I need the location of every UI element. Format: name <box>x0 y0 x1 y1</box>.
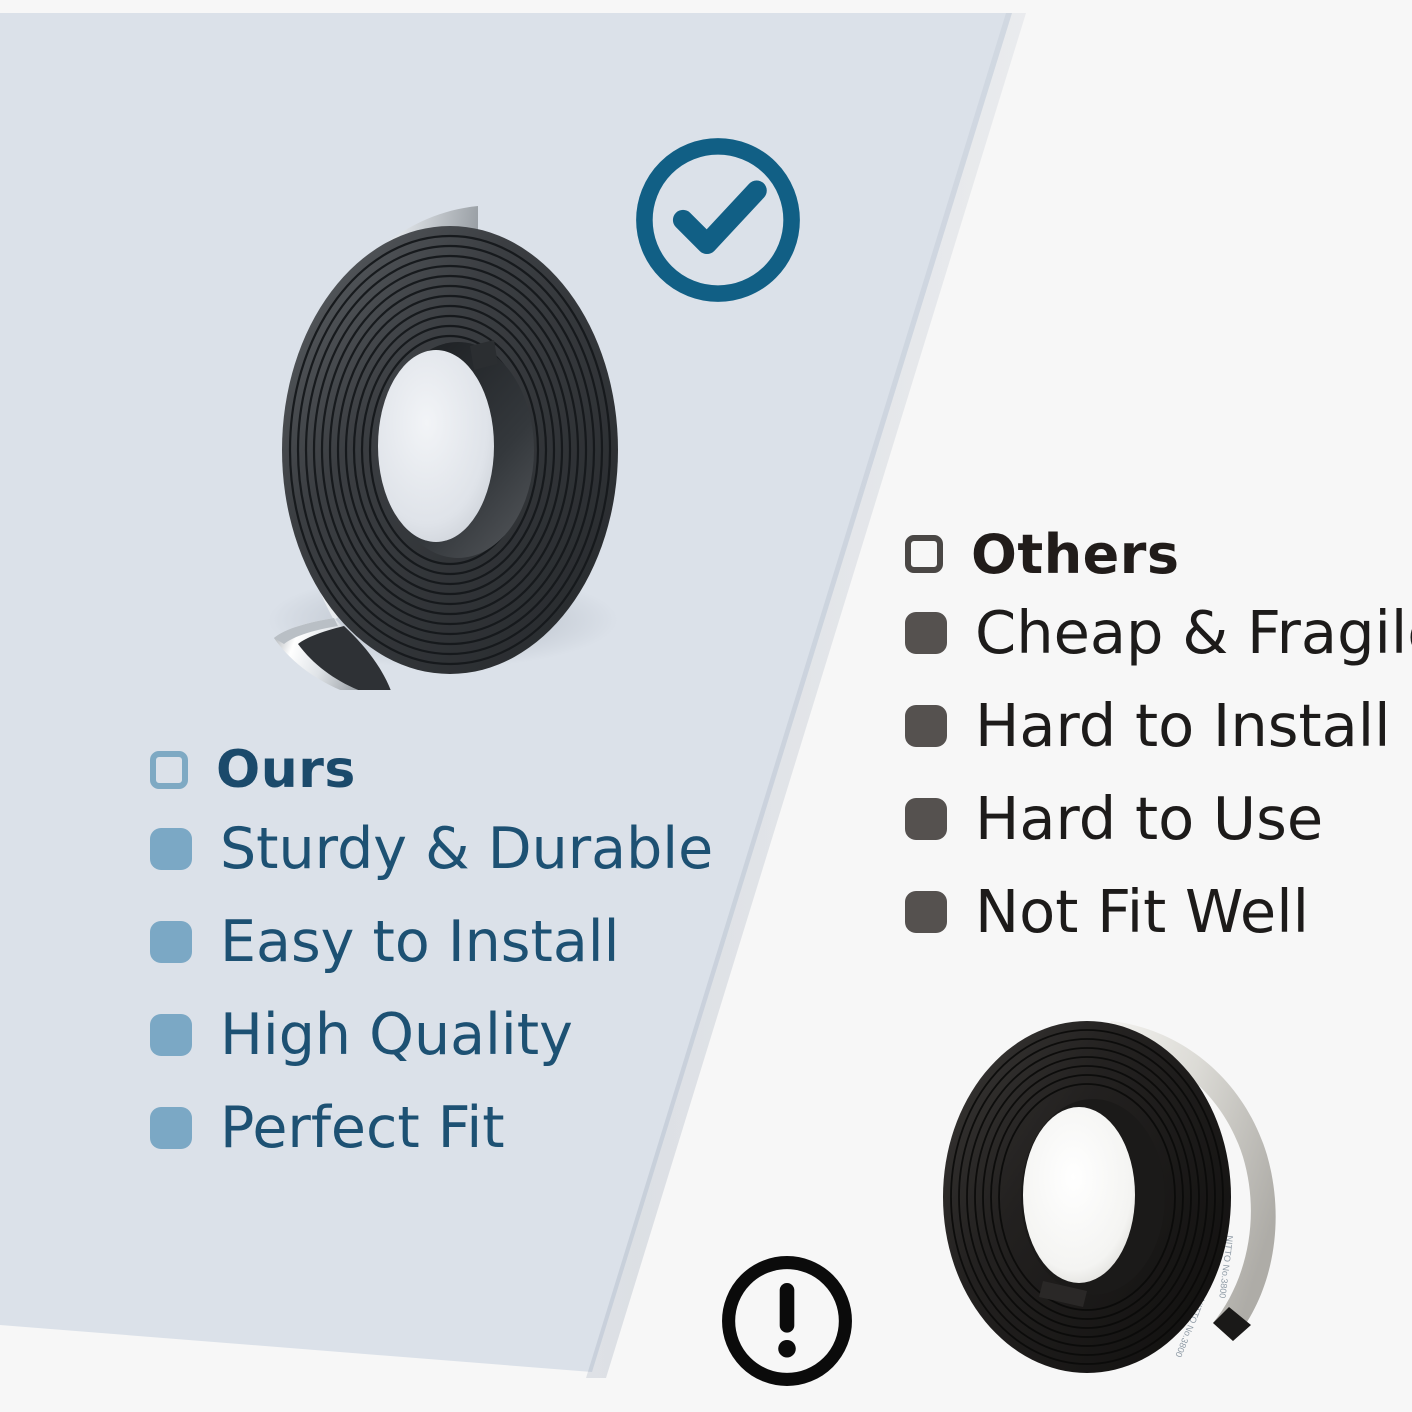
ours-bullet-icon <box>150 1107 192 1149</box>
list-item: Perfect Fit <box>150 1081 713 1174</box>
others-bullet-icon <box>905 705 947 747</box>
ours-bullet-icon <box>150 921 192 963</box>
ours-bullet-icon <box>150 1014 192 1056</box>
ours-item-label: Perfect Fit <box>220 1095 505 1161</box>
others-bullet-icon <box>905 798 947 840</box>
others-bullet-icon <box>905 612 947 654</box>
list-item: Hard to Install <box>905 679 1412 772</box>
ours-heading-label: Ours <box>216 740 356 800</box>
exclamation-circle-icon <box>714 1248 860 1394</box>
others-heading-label: Others <box>971 523 1180 586</box>
coil-hole <box>378 350 494 542</box>
others-item-label: Hard to Use <box>975 784 1323 853</box>
ours-item-label: Easy to Install <box>220 909 619 975</box>
list-item: Not Fit Well <box>905 865 1412 958</box>
ours-feature-list: Ours Sturdy & Durable Easy to Install Hi… <box>150 738 713 1174</box>
others-checkbox-icon <box>905 535 943 573</box>
others-heading-row: Others <box>905 522 1412 586</box>
list-item: Sturdy & Durable <box>150 802 713 895</box>
ours-item-label: High Quality <box>220 1002 573 1068</box>
others-item-label: Hard to Install <box>975 691 1391 760</box>
product-image-ours <box>178 150 678 690</box>
list-item: Easy to Install <box>150 895 713 988</box>
list-item: Cheap & Fragile <box>905 586 1412 679</box>
ours-item-label: Sturdy & Durable <box>220 816 713 882</box>
comparison-infographic: Ours Sturdy & Durable Easy to Install Hi… <box>0 0 1412 1412</box>
list-item: High Quality <box>150 988 713 1081</box>
check-circle-icon <box>626 128 810 312</box>
coil-hole-others <box>1023 1107 1135 1283</box>
ours-heading-row: Ours <box>150 738 713 802</box>
ours-bullet-icon <box>150 828 192 870</box>
product-image-others: NITTO No.3800 NITTO No.3800 NITTO No.380… <box>915 985 1315 1412</box>
list-item: Hard to Use <box>905 772 1412 865</box>
others-feature-list: Others Cheap & Fragile Hard to Install H… <box>905 522 1412 958</box>
others-item-label: Not Fit Well <box>975 877 1309 946</box>
ours-checkbox-icon <box>150 751 188 789</box>
others-item-label: Cheap & Fragile <box>975 598 1412 667</box>
others-bullet-icon <box>905 891 947 933</box>
